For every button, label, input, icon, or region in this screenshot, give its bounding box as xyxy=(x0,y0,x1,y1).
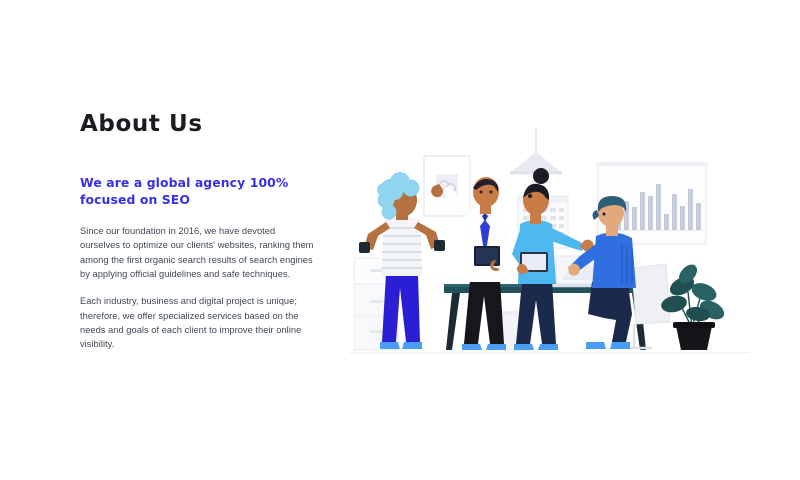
page-title: About Us xyxy=(80,112,315,137)
section-subheading: We are a global agency 100% focused on S… xyxy=(80,175,315,208)
text-column: About Us We are a global agency 100% foc… xyxy=(80,112,315,352)
about-us-slide: About Us We are a global agency 100% foc… xyxy=(0,0,800,480)
body-paragraph-1: Since our foundation in 2016, we have de… xyxy=(80,224,315,281)
body-paragraph-2: Each industry, business and digital proj… xyxy=(80,294,315,351)
potted-plant-icon xyxy=(660,261,728,350)
seo-team-office-illustration xyxy=(340,128,760,378)
